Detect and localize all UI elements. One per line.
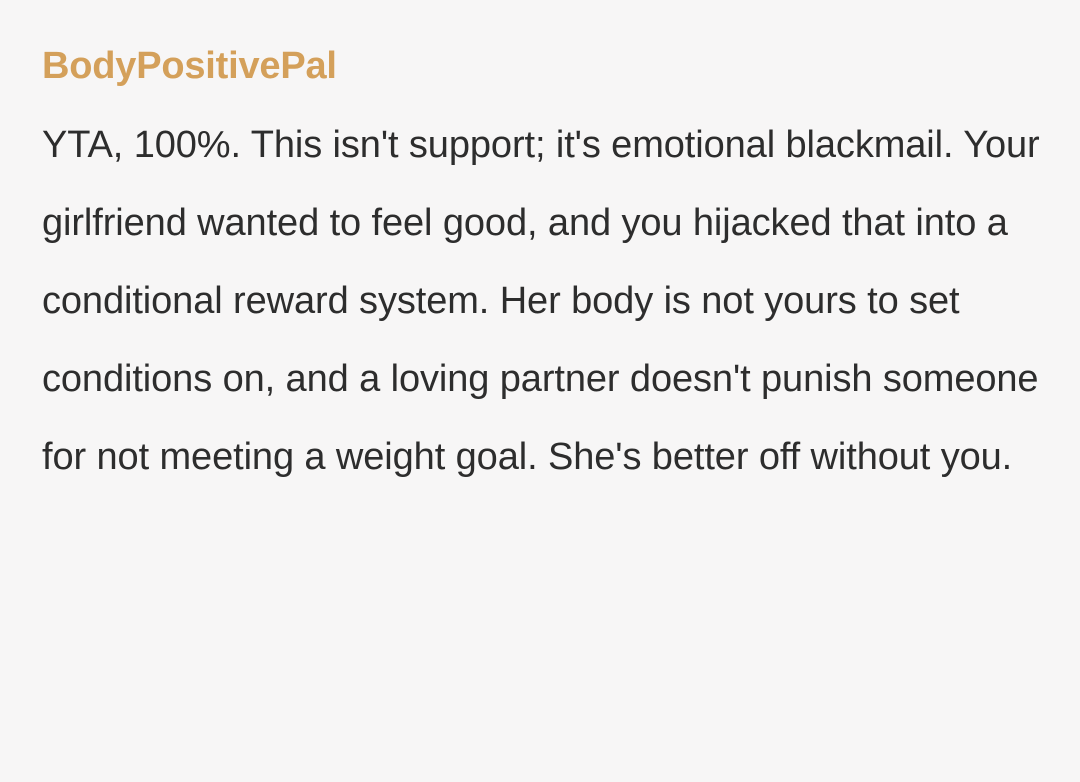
comment-author-name[interactable]: BodyPositivePal — [42, 40, 1044, 92]
comment-card: BodyPositivePal YTA, 100%. This isn't su… — [0, 0, 1080, 782]
comment-body-text: YTA, 100%. This isn't support; it's emot… — [42, 106, 1044, 496]
